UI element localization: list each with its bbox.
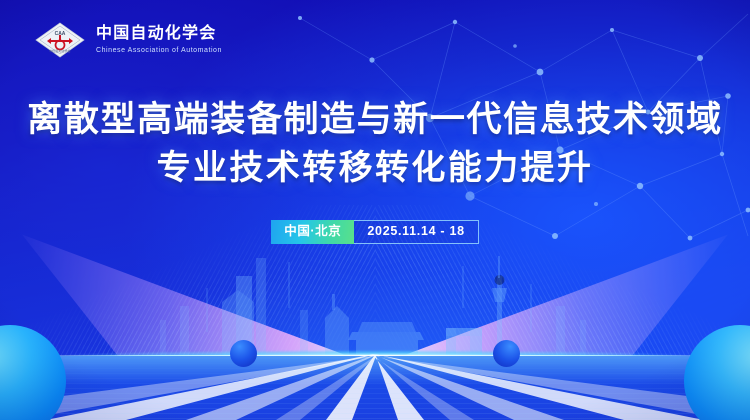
conference-poster: CAA 中国自动化学会 中国自动化学会 Chinese Association … (0, 0, 750, 420)
beijing-skyline-icon (0, 240, 750, 360)
organization-header: CAA 中国自动化学会 中国自动化学会 Chinese Association … (34, 20, 222, 60)
title-line-1: 离散型高端装备制造与新一代信息技术领域 (0, 96, 750, 144)
title-line-2: 专业技术转移转化能力提升 (0, 144, 750, 192)
location-badge: 中国·北京 (271, 220, 354, 244)
floor-grid (0, 358, 750, 420)
poster-title: 离散型高端装备制造与新一代信息技术领域 专业技术转移转化能力提升 (0, 96, 750, 192)
organization-name-cn: 中国自动化学会 (96, 25, 222, 43)
caa-diamond-logo-icon: CAA 中国自动化学会 (34, 20, 86, 60)
svg-text:CAA: CAA (55, 31, 66, 37)
sphere-icon (230, 340, 257, 367)
organization-name-en: Chinese Association of Automation (96, 46, 222, 55)
date-badge: 2025.11.14 - 18 (354, 220, 478, 244)
sphere-icon (493, 340, 520, 367)
svg-text:中国自动化学会: 中国自动化学会 (49, 48, 70, 53)
event-meta-badges: 中国·北京 2025.11.14 - 18 (0, 220, 750, 244)
